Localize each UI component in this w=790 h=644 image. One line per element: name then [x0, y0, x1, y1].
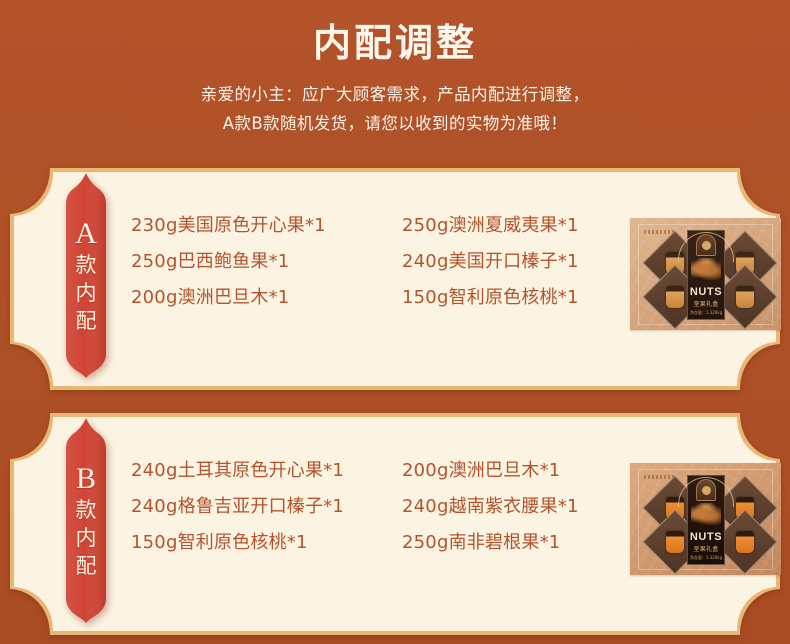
brand-subtitle: 坚果礼盒: [688, 299, 724, 308]
item-list-b-left: 240g土耳其原色开心果*1 240g格鲁吉亚开口榛子*1 150g智利原色核桃…: [131, 453, 344, 561]
gift-box-brand-mark: [644, 230, 674, 234]
card-variant-a: A 款 内 配 230g美国原色开心果*1 250g巴西鲍鱼果*1 200g澳洲…: [10, 168, 780, 390]
list-item: 240g土耳其原色开心果*1: [131, 453, 344, 489]
list-item: 150g智利原色核桃*1: [131, 525, 344, 561]
brand-word: NUTS: [688, 531, 724, 543]
variant-tag-ribbon-a: [57, 173, 115, 378]
header: 内配调整 亲爱的小主：应广大顾客需求，产品内配进行调整， A款B款随机发货，请您…: [0, 0, 790, 162]
nut-jar: [736, 531, 754, 553]
list-item: 240g美国开口榛子*1: [402, 244, 579, 280]
list-item: 240g格鲁吉亚开口榛子*1: [131, 489, 344, 525]
page-title: 内配调整: [0, 18, 790, 68]
list-item: 200g澳洲巴旦木*1: [402, 453, 579, 489]
nut-jar: [666, 531, 684, 553]
brand-subtitle: 坚果礼盒: [688, 544, 724, 553]
list-item: 150g智利原色核桃*1: [402, 280, 579, 316]
promo-page: 内配调整 亲爱的小主：应广大顾客需求，产品内配进行调整， A款B款随机发货，请您…: [0, 0, 790, 644]
list-item: 250g南非碧根果*1: [402, 525, 579, 561]
list-item: 230g美国原色开心果*1: [131, 208, 326, 244]
card-variant-b: B 款 内 配 240g土耳其原色开心果*1 240g格鲁吉亚开口榛子*1 15…: [10, 413, 780, 635]
subtitle-line-2: A款B款随机发货，请您以收到的实物为准哦！: [0, 109, 790, 138]
subtitle: 亲爱的小主：应广大顾客需求，产品内配进行调整， A款B款随机发货，请您以收到的实…: [0, 80, 790, 138]
item-list-a-right: 250g澳洲夏威夷果*1 240g美国开口榛子*1 150g智利原色核桃*1: [402, 208, 579, 316]
gift-box-brand-mark: [644, 475, 674, 479]
list-item: 240g越南紫衣腰果*1: [402, 489, 579, 525]
list-item: 250g巴西鲍鱼果*1: [131, 244, 326, 280]
nut-jar: [666, 286, 684, 308]
brand-word: NUTS: [688, 286, 724, 298]
nut-jar: [736, 286, 754, 308]
item-list-b-right: 200g澳洲巴旦木*1 240g越南紫衣腰果*1 250g南非碧根果*1: [402, 453, 579, 561]
subtitle-line-1: 亲爱的小主：应广大顾客需求，产品内配进行调整，: [0, 80, 790, 109]
nut-gift-box-photo-a: NUTS 坚果礼盒 净含量：1.320kg: [630, 218, 781, 330]
brand-net-weight: 净含量：1.320kg: [688, 555, 724, 561]
list-item: 250g澳洲夏威夷果*1: [402, 208, 579, 244]
nut-gift-box-photo-b: NUTS 坚果礼盒 净含量：1.320kg: [630, 463, 781, 575]
list-item: 200g澳洲巴旦木*1: [131, 280, 326, 316]
item-list-a-left: 230g美国原色开心果*1 250g巴西鲍鱼果*1 200g澳洲巴旦木*1: [131, 208, 326, 316]
variant-tag-ribbon-b: [57, 418, 115, 623]
brand-net-weight: 净含量：1.320kg: [688, 310, 724, 316]
